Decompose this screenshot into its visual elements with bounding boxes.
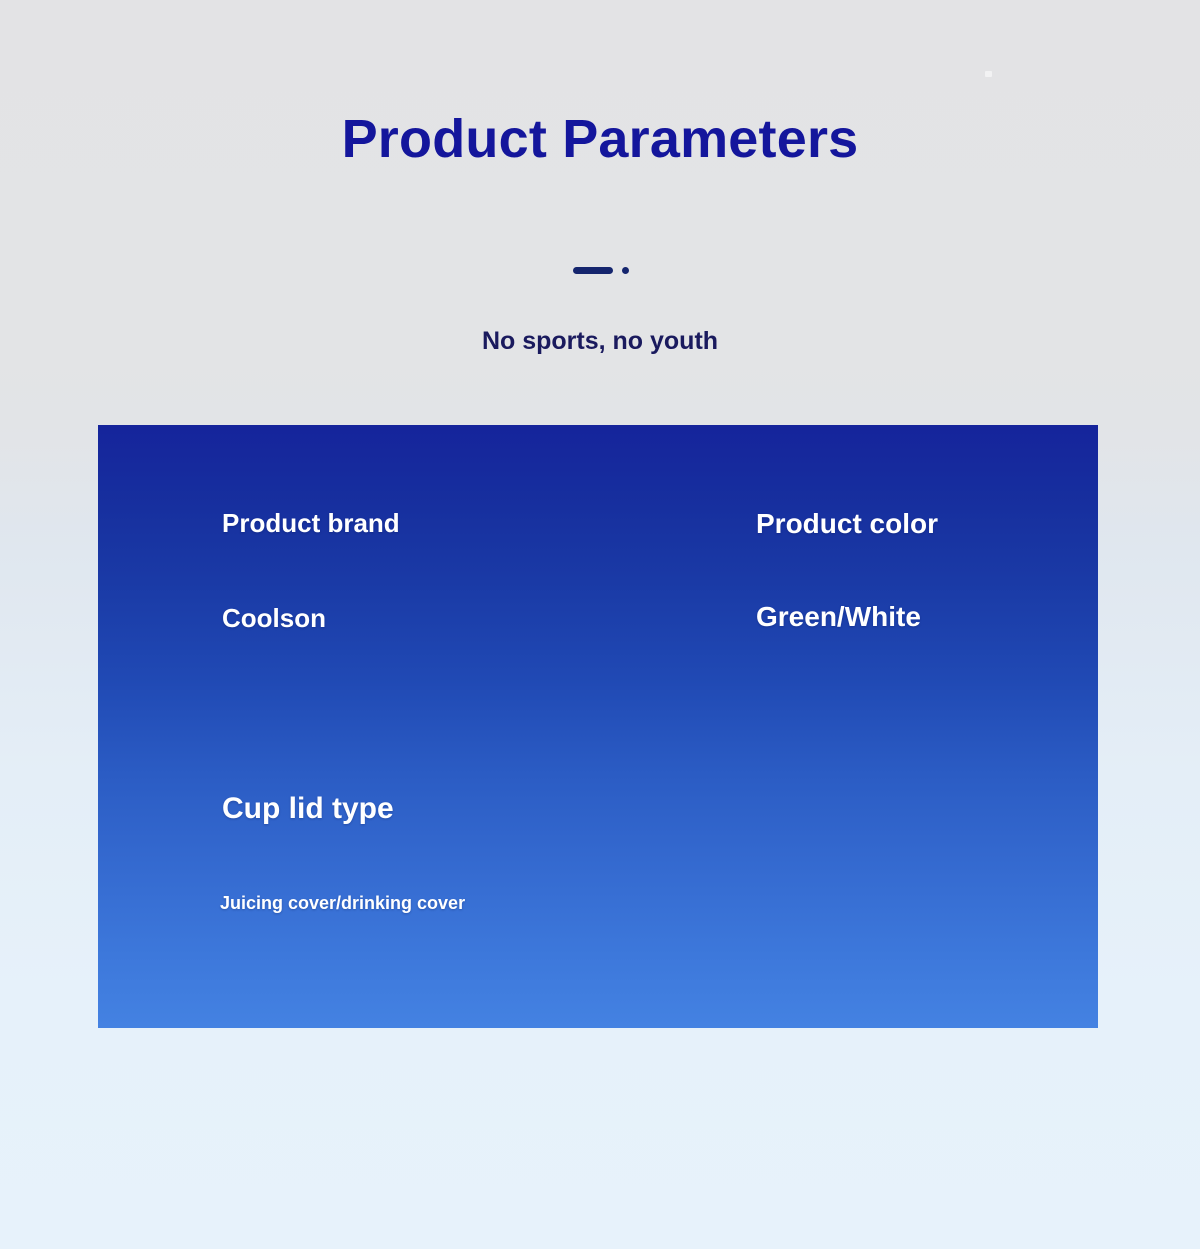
spec-label-product-brand: Product brand	[222, 507, 400, 539]
specification-grid: Product brand Coolson Product color Gree…	[98, 425, 1098, 1028]
spec-value-product-color: Green/White	[756, 600, 921, 634]
background-speck-artifact	[985, 71, 992, 77]
divider-dash-icon	[573, 267, 613, 274]
specification-panel: Product brand Coolson Product color Gree…	[98, 425, 1098, 1028]
spec-value-cup-lid-type: Juicing cover/drinking cover	[220, 891, 465, 915]
dash-dot-divider-icon	[573, 264, 633, 278]
page-subtitle: No sports, no youth	[0, 325, 1200, 357]
divider-dot-icon	[622, 267, 629, 274]
spec-label-cup-lid-type: Cup lid type	[222, 790, 394, 828]
spec-value-product-brand: Coolson	[222, 602, 326, 634]
page-title: Product Parameters	[0, 108, 1200, 170]
product-parameters-page: Product Parameters No sports, no youth P…	[0, 0, 1200, 1249]
spec-label-product-color: Product color	[756, 507, 938, 541]
